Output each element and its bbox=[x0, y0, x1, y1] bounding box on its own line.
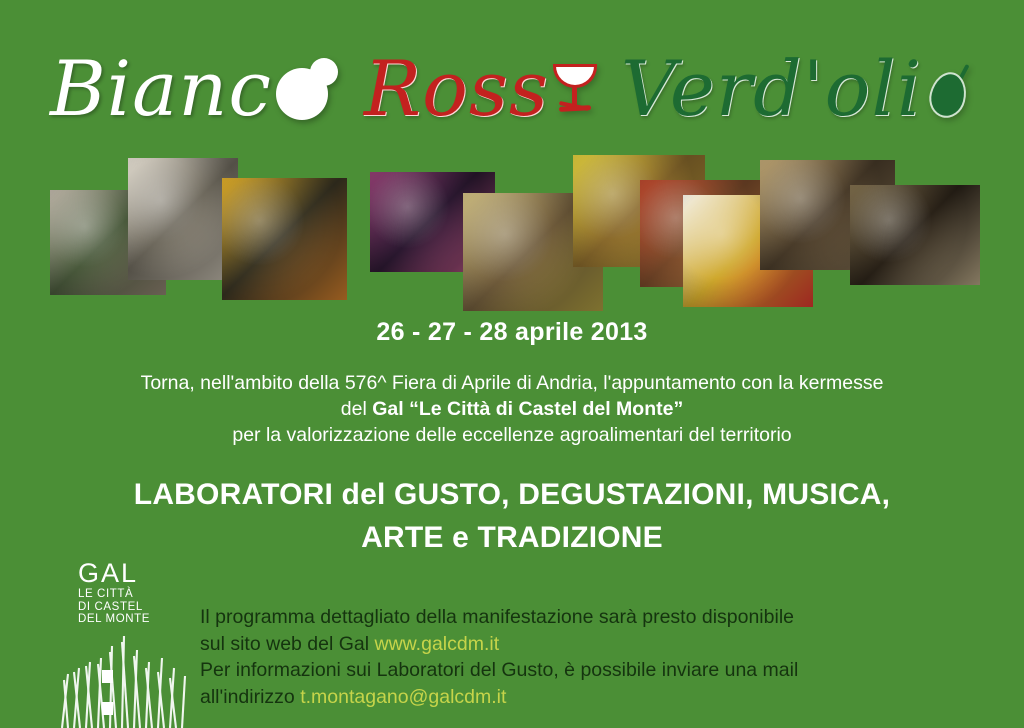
contact-line-4-prefix: all'indirizzo bbox=[200, 686, 300, 708]
intro-line-2-prefix: del bbox=[341, 398, 372, 420]
website-link[interactable]: www.galcdm.it bbox=[375, 633, 500, 655]
olive-icon bbox=[924, 58, 974, 120]
event-date: 26 - 27 - 28 aprile 2013 bbox=[0, 318, 1024, 347]
wheat-stalks-icon bbox=[48, 628, 192, 728]
title-word-verdolio-text: Verd'oli bbox=[621, 51, 922, 127]
intro-line-3: per la valorizzazione delle eccellenze a… bbox=[0, 422, 1024, 448]
title-word-rosso: Ross bbox=[364, 51, 599, 127]
contact-line-2-prefix: sul sito web del Gal bbox=[200, 633, 375, 655]
contact-block: Il programma dettagliato della manifesta… bbox=[200, 604, 920, 710]
photo-speaker-audience bbox=[850, 185, 980, 285]
title-word-verdolio: Verd'oli bbox=[621, 51, 974, 127]
gal-logo-name: GAL bbox=[78, 560, 138, 587]
headline-line-1: LABORATORI del GUSTO, DEGUSTAZIONI, MUSI… bbox=[0, 473, 1024, 516]
intro-paragraph: Torna, nell'ambito della 576^ Fiera di A… bbox=[0, 370, 1024, 448]
contact-line-3: Per informazioni sui Laboratori del Gust… bbox=[200, 657, 920, 684]
headline-line-2: ARTE e TRADIZIONE bbox=[0, 516, 1024, 559]
gal-logo-sub-3: DEL MONTE bbox=[78, 613, 150, 626]
gal-logo-sub-1: LE CITTÀ bbox=[78, 588, 150, 601]
title-word-rosso-text: Ross bbox=[364, 51, 549, 127]
contact-line-4: all'indirizzo t.montagano@galcdm.it bbox=[200, 684, 920, 711]
gal-logo-sub-2: DI CASTEL bbox=[78, 601, 150, 614]
photo-sommelier-yellow bbox=[222, 178, 347, 300]
photo-collage bbox=[0, 150, 1024, 310]
wineglass-icon bbox=[551, 58, 599, 120]
contact-line-2: sul sito web del Gal www.galcdm.it bbox=[200, 631, 920, 658]
intro-line-2: del Gal “Le Città di Castel del Monte” bbox=[0, 396, 1024, 422]
mozzarella-icon bbox=[276, 58, 338, 120]
intro-line-2-bold: Gal “Le Città di Castel del Monte” bbox=[372, 398, 683, 420]
title-word-bianco: Bianc bbox=[50, 51, 338, 127]
contact-line-1: Il programma dettagliato della manifesta… bbox=[200, 604, 920, 631]
gal-logo-subtitle: LE CITTÀ DI CASTEL DEL MONTE bbox=[78, 588, 150, 626]
poster-title: Bianc Ross Verd'oli bbox=[0, 34, 1024, 144]
intro-line-1: Torna, nell'ambito della 576^ Fiera di A… bbox=[0, 370, 1024, 396]
gal-logo: GAL LE CITTÀ DI CASTEL DEL MONTE bbox=[48, 556, 192, 728]
email-link[interactable]: t.montagano@galcdm.it bbox=[300, 686, 506, 708]
headline: LABORATORI del GUSTO, DEGUSTAZIONI, MUSI… bbox=[0, 473, 1024, 559]
poster-root: Bianc Ross Verd'oli 26 - 27 - 28 aprile … bbox=[0, 0, 1024, 728]
title-word-bianco-text: Bianc bbox=[50, 51, 272, 127]
